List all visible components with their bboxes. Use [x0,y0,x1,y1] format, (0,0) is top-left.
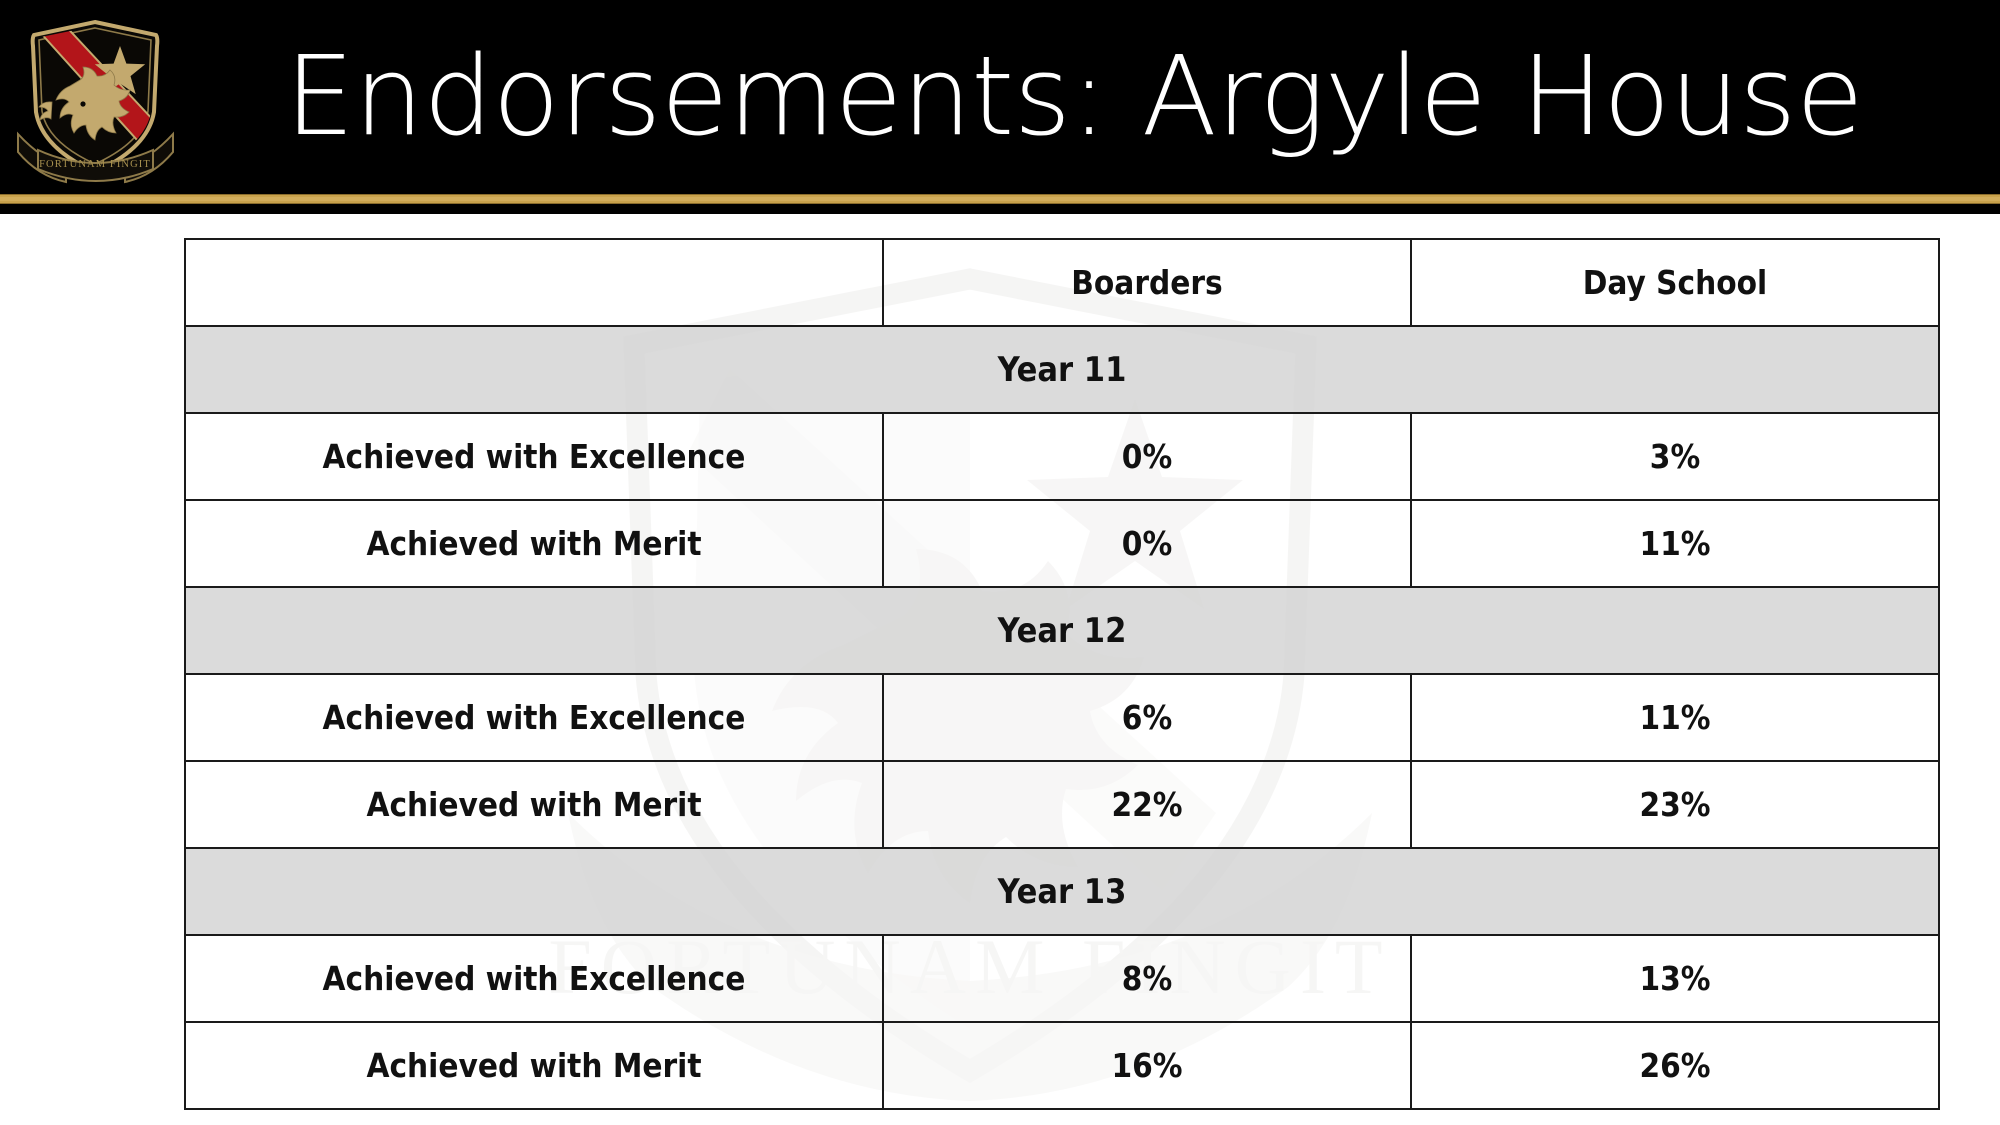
cell-y11-merit-day-school: 11% [1411,500,1939,587]
table-header-boarders: Boarders [883,239,1411,326]
row-label-y13-merit: Achieved with Merit [185,1022,883,1109]
row-label-y12-merit: Achieved with Merit [185,761,883,848]
table-row: Achieved with Merit 22% 23% [185,761,1939,848]
cell-y12-merit-day-school: 23% [1411,761,1939,848]
header-under-bar [0,204,2000,214]
section-label-year-13: Year 13 [185,848,1939,935]
cell-y13-merit-boarders: 16% [883,1022,1411,1109]
section-row-year-12: Year 12 [185,587,1939,674]
cell-y12-excellence-day-school: 11% [1411,674,1939,761]
row-label-y12-excellence: Achieved with Excellence [185,674,883,761]
cell-y12-merit-boarders: 22% [883,761,1411,848]
header-gold-divider [0,194,2000,204]
table-row: Achieved with Excellence 8% 13% [185,935,1939,1022]
page-title: Endorsements: Argyle House [285,16,1945,176]
cell-y11-merit-boarders: 0% [883,500,1411,587]
section-label-year-11: Year 11 [185,326,1939,413]
crest-motto-text: FORTUNAM FINGIT [39,159,151,170]
table-row: Achieved with Excellence 0% 3% [185,413,1939,500]
table-header-day-school: Day School [1411,239,1939,326]
cell-y13-excellence-boarders: 8% [883,935,1411,1022]
cell-y12-excellence-boarders: 6% [883,674,1411,761]
school-crest-icon: FORTUNAM FINGIT [8,8,183,186]
endorsements-table-wrapper: Boarders Day School Year 11 Achieved wit… [184,238,1872,1110]
table-row: Achieved with Merit 16% 26% [185,1022,1939,1109]
cell-y11-excellence-boarders: 0% [883,413,1411,500]
table-header-blank-cell [185,239,883,326]
cell-y13-merit-day-school: 26% [1411,1022,1939,1109]
section-row-year-11: Year 11 [185,326,1939,413]
table-header-row: Boarders Day School [185,239,1939,326]
row-label-y11-excellence: Achieved with Excellence [185,413,883,500]
table-row: Achieved with Merit 0% 11% [185,500,1939,587]
row-label-y13-excellence: Achieved with Excellence [185,935,883,1022]
row-label-y11-merit: Achieved with Merit [185,500,883,587]
endorsements-table: Boarders Day School Year 11 Achieved wit… [184,238,1940,1110]
cell-y13-excellence-day-school: 13% [1411,935,1939,1022]
cell-y11-excellence-day-school: 3% [1411,413,1939,500]
table-row: Achieved with Excellence 6% 11% [185,674,1939,761]
section-label-year-12: Year 12 [185,587,1939,674]
section-row-year-13: Year 13 [185,848,1939,935]
